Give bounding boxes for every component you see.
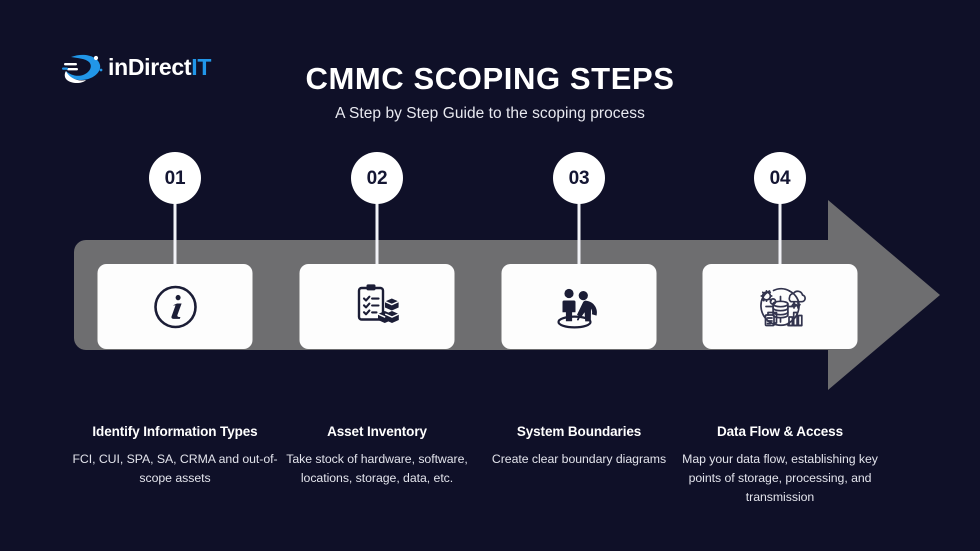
- clipboard-checklist-boxes-icon: [351, 281, 403, 333]
- step-card-1[interactable]: [98, 264, 253, 349]
- step-connector-2: [376, 200, 379, 270]
- step-connector-1: [174, 200, 177, 270]
- data-flow-database-icon: [753, 281, 807, 333]
- step-description-4: Map your data flow, establishing key poi…: [671, 450, 889, 507]
- people-boundary-icon: [552, 283, 606, 331]
- step-item-1[interactable]: 01 Identify Information Types FCI, CUI, …: [74, 0, 276, 551]
- step-title-1: Identify Information Types: [66, 424, 284, 440]
- step-title-4: Data Flow & Access: [671, 424, 889, 440]
- step-caption-4: Data Flow & Access Map your data flow, e…: [671, 424, 889, 507]
- step-connector-4: [779, 200, 782, 270]
- step-item-4[interactable]: 04: [679, 0, 881, 551]
- step-badge-4: 04: [754, 152, 806, 204]
- step-card-3[interactable]: [502, 264, 657, 349]
- step-connector-3: [578, 200, 581, 270]
- step-title-3: System Boundaries: [470, 424, 688, 440]
- step-caption-2: Asset Inventory Take stock of hardware, …: [268, 424, 486, 488]
- step-number-3: 03: [569, 169, 590, 188]
- step-title-2: Asset Inventory: [268, 424, 486, 440]
- steps-container: 01 Identify Information Types FCI, CUI, …: [0, 0, 980, 551]
- step-card-2[interactable]: [300, 264, 455, 349]
- step-caption-3: System Boundaries Create clear boundary …: [470, 424, 688, 469]
- slide-canvas: inDirectIT CMMC SCOPING STEPS A Step by …: [0, 0, 980, 551]
- step-badge-3: 03: [553, 152, 605, 204]
- step-number-4: 04: [770, 169, 791, 188]
- step-caption-1: Identify Information Types FCI, CUI, SPA…: [66, 424, 284, 488]
- step-item-2[interactable]: 02: [276, 0, 478, 551]
- step-description-3: Create clear boundary diagrams: [470, 450, 688, 469]
- step-description-1: FCI, CUI, SPA, SA, CRMA and out-of-scope…: [66, 450, 284, 488]
- step-item-3[interactable]: 03 System Boundaries Create clear bounda…: [478, 0, 680, 551]
- step-number-2: 02: [367, 169, 388, 188]
- step-card-4[interactable]: [703, 264, 858, 349]
- info-circle-icon: [150, 282, 200, 332]
- step-badge-2: 02: [351, 152, 403, 204]
- step-description-2: Take stock of hardware, software, locati…: [268, 450, 486, 488]
- step-number-1: 01: [165, 169, 186, 188]
- step-badge-1: 01: [149, 152, 201, 204]
